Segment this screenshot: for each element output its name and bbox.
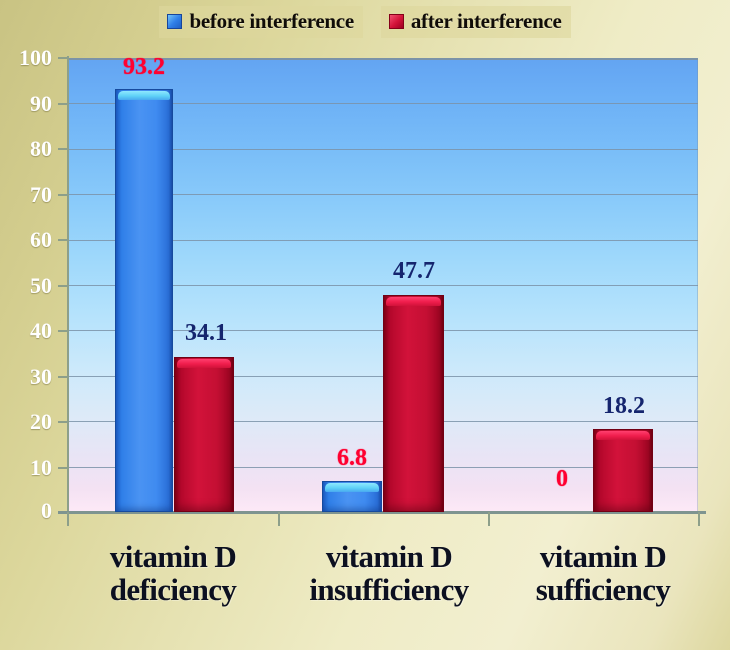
y-axis-label-70: 70 — [0, 182, 52, 208]
bar-chart: before interference after interference 1… — [0, 0, 730, 650]
y-axis-label-100: 100 — [0, 45, 52, 71]
x-tick-mark-1 — [278, 512, 280, 526]
value-label-before-insufficiency: 6.8 — [337, 445, 367, 472]
category-label-line2: deficiency — [60, 573, 286, 606]
x-axis-category-label-insufficiency: vitamin D insufficiency — [278, 540, 500, 607]
x-tick-mark-2 — [488, 512, 490, 526]
y-tick-mark-10 — [58, 467, 69, 469]
value-label-after-sufficiency: 18.2 — [603, 393, 645, 420]
x-axis-category-label-deficiency: vitamin D deficiency — [60, 540, 286, 607]
y-tick-mark-70 — [58, 194, 69, 196]
y-tick-mark-60 — [58, 239, 69, 241]
y-axis-label-60: 60 — [0, 227, 52, 253]
value-label-before-sufficiency: 0 — [556, 466, 568, 493]
x-axis-category-label-sufficiency: vitamin D sufficiency — [496, 540, 710, 607]
bar-before-interference-insufficiency[interactable] — [322, 481, 382, 512]
y-axis-label-80: 80 — [0, 136, 52, 162]
category-label-line1: vitamin D — [540, 539, 666, 574]
bar-before-interference-deficiency[interactable] — [115, 89, 173, 512]
y-tick-mark-40 — [58, 330, 69, 332]
y-tick-mark-20 — [58, 421, 69, 423]
category-label-line1: vitamin D — [326, 539, 452, 574]
blue-square-marker-icon — [167, 14, 182, 29]
bar-after-interference-deficiency[interactable] — [174, 357, 234, 512]
legend-item-before-interference[interactable]: before interference — [159, 6, 362, 38]
y-tick-mark-90 — [58, 103, 69, 105]
y-tick-mark-80 — [58, 148, 69, 150]
value-label-before-deficiency: 93.2 — [123, 54, 165, 81]
legend-label-before-interference: before interference — [189, 9, 353, 34]
legend-label-after-interference: after interference — [411, 9, 562, 34]
y-axis-label-20: 20 — [0, 409, 52, 435]
y-tick-mark-30 — [58, 376, 69, 378]
legend-item-after-interference[interactable]: after interference — [381, 6, 571, 38]
y-axis-label-10: 10 — [0, 455, 52, 481]
y-axis-label-50: 50 — [0, 273, 52, 299]
category-label-line1: vitamin D — [110, 539, 236, 574]
x-tick-mark-end — [698, 512, 700, 526]
category-label-line2: insufficiency — [278, 573, 500, 606]
y-axis-label-0: 0 — [0, 498, 52, 524]
category-label-line2: sufficiency — [496, 573, 710, 606]
x-tick-mark-start — [67, 512, 69, 526]
bar-after-interference-insufficiency[interactable] — [383, 295, 444, 512]
value-label-after-insufficiency: 47.7 — [393, 258, 435, 285]
chart-legend: before interference after interference — [0, 4, 730, 40]
y-axis-label-30: 30 — [0, 364, 52, 390]
y-axis-label-40: 40 — [0, 318, 52, 344]
value-label-after-deficiency: 34.1 — [185, 320, 227, 347]
bar-after-interference-sufficiency[interactable] — [593, 429, 653, 512]
y-tick-mark-50 — [58, 285, 69, 287]
red-square-marker-icon — [389, 14, 404, 29]
y-axis-label-90: 90 — [0, 91, 52, 117]
y-tick-mark-100 — [58, 57, 69, 59]
